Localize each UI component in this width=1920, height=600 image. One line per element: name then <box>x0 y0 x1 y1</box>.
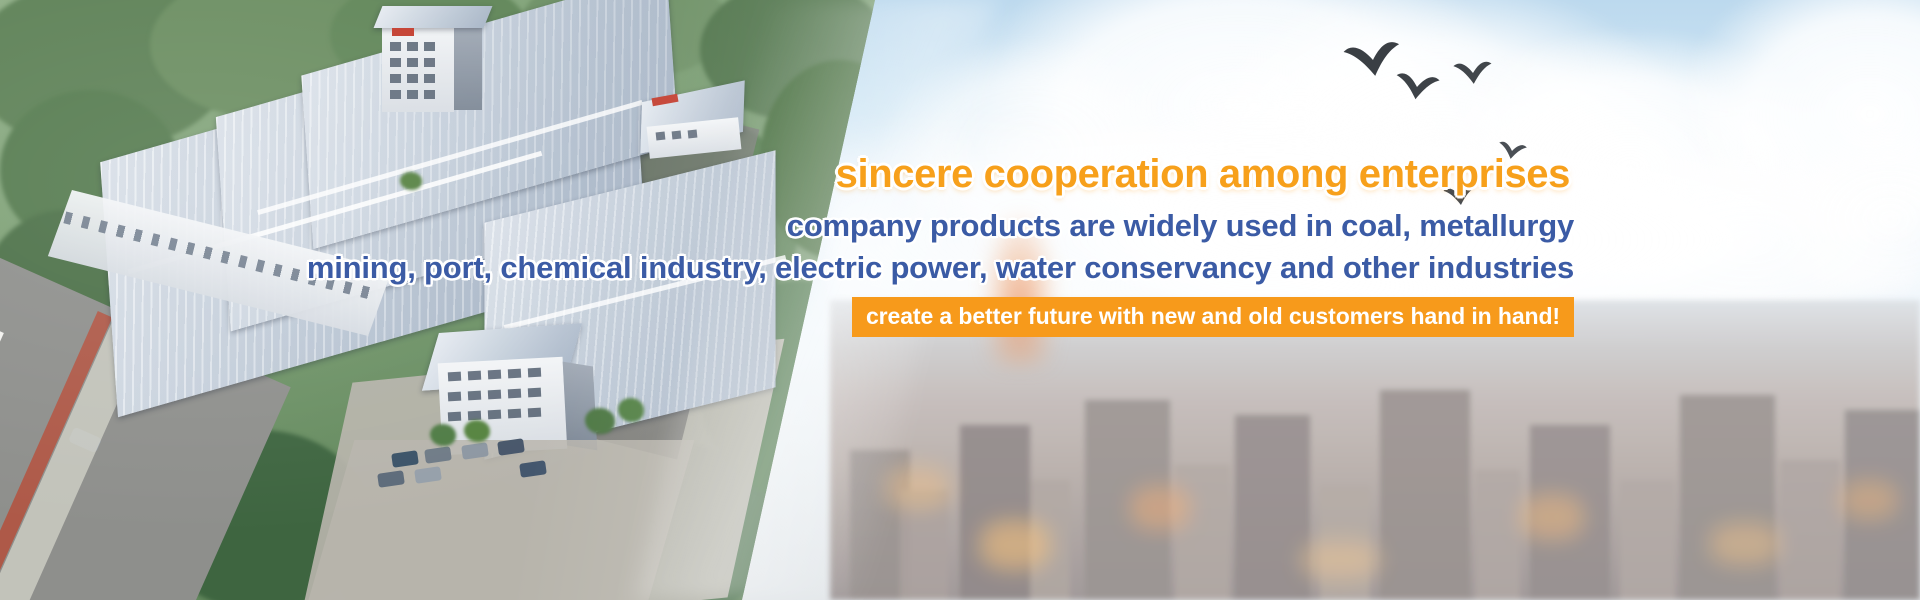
window <box>424 90 435 99</box>
city-block <box>1235 415 1310 600</box>
window <box>390 74 401 83</box>
window <box>508 369 521 379</box>
window <box>488 390 501 400</box>
window <box>508 409 521 419</box>
cta-button[interactable]: create a better future with new and old … <box>852 297 1574 337</box>
parking-lot <box>306 440 695 600</box>
city-block <box>1475 470 1520 600</box>
window <box>448 392 461 402</box>
office-building-roof <box>374 6 493 28</box>
window <box>508 389 521 399</box>
city-light-glow <box>980 520 1050 570</box>
window <box>407 90 418 99</box>
window <box>468 411 481 421</box>
window <box>407 58 418 67</box>
shrub <box>430 424 456 446</box>
city-block <box>1780 460 1840 600</box>
shrub <box>464 420 490 442</box>
hero-banner: sincere cooperation among enterprises co… <box>0 0 1920 600</box>
window <box>468 371 481 381</box>
chimney-haze <box>985 215 1055 365</box>
office-building-side <box>454 28 482 110</box>
city-light-glow <box>1840 480 1898 520</box>
window <box>390 58 401 67</box>
window <box>424 42 435 51</box>
city-block <box>960 425 1030 600</box>
city-light-glow <box>1130 486 1190 530</box>
city-light-glow <box>885 466 951 510</box>
front-office-side <box>563 362 598 451</box>
bird-2 <box>1391 67 1443 107</box>
window <box>390 90 401 99</box>
city-block <box>1380 390 1470 600</box>
window <box>528 368 541 378</box>
shrub <box>400 172 422 190</box>
window <box>528 408 541 418</box>
window <box>656 132 666 141</box>
company-sign <box>392 28 414 36</box>
window <box>688 130 698 139</box>
city-block <box>1680 395 1775 600</box>
bird-3 <box>1451 57 1495 90</box>
city-light-glow <box>1710 523 1780 565</box>
window <box>468 391 481 401</box>
city-light-glow <box>1300 540 1380 580</box>
window <box>407 42 418 51</box>
window <box>672 131 682 140</box>
window <box>407 74 418 83</box>
window <box>424 58 435 67</box>
shrub <box>585 408 615 434</box>
window <box>448 372 461 382</box>
city-block <box>1620 480 1675 600</box>
window <box>528 388 541 398</box>
window <box>448 412 461 422</box>
bird-5 <box>1442 181 1479 210</box>
window <box>390 42 401 51</box>
city-block <box>1175 465 1230 600</box>
shrub <box>618 398 644 422</box>
city-light-glow <box>1520 494 1584 540</box>
window <box>424 74 435 83</box>
window <box>488 410 501 420</box>
window <box>488 370 501 380</box>
